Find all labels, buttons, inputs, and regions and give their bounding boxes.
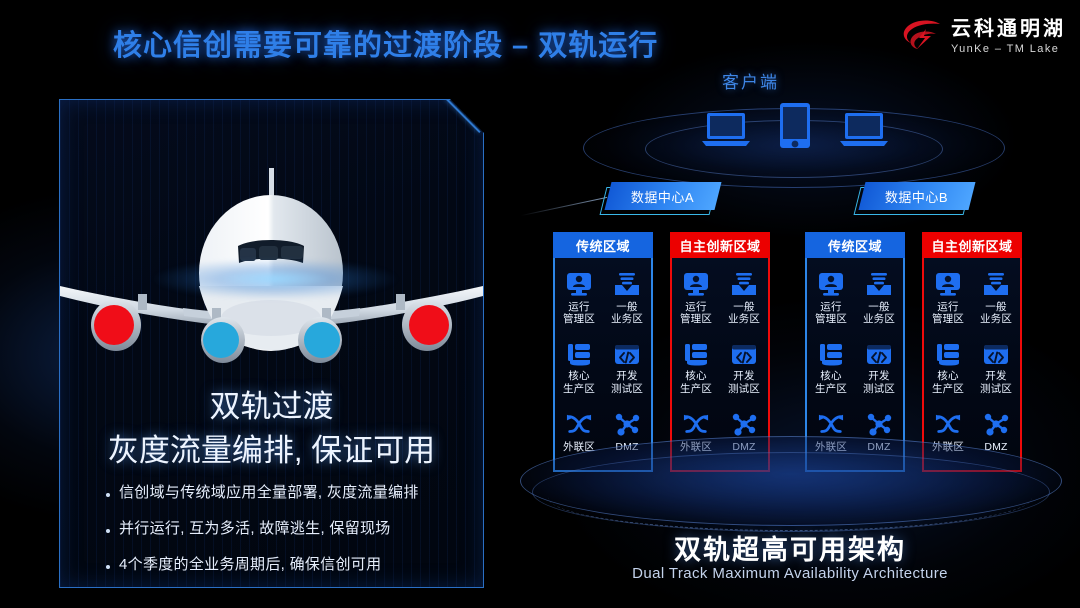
bullet-text: 信创域与传统域应用全量部署, 灰度流量编排 bbox=[119, 484, 419, 503]
zone-cell-label: 运行管理区 bbox=[932, 301, 964, 326]
zone-cell[interactable]: 外联区 bbox=[555, 412, 603, 453]
zone-cell-label: 运行管理区 bbox=[680, 301, 712, 326]
client-devices bbox=[700, 100, 890, 150]
crossing-arrows-icon bbox=[935, 412, 961, 436]
logo-text-cn: 云科通明湖 bbox=[951, 19, 1066, 39]
code-window-icon bbox=[614, 342, 640, 366]
zone-row: 核心生产区 开发测试区 bbox=[672, 342, 768, 395]
bullet-dot-icon bbox=[106, 493, 110, 497]
logo-swoosh-icon bbox=[902, 18, 942, 56]
page-title: 核心信创需要可靠的过渡阶段 – 双轨运行 bbox=[113, 22, 658, 64]
logo-text-en: YunKe – TM Lake bbox=[951, 44, 1066, 55]
zone-title: 自主创新区域 bbox=[931, 236, 1012, 255]
zone-cell[interactable]: 运行管理区 bbox=[924, 273, 972, 326]
zone-cell[interactable]: 运行管理区 bbox=[807, 273, 855, 326]
zone-cell[interactable]: 核心生产区 bbox=[924, 342, 972, 395]
zone-cell-label: 运行管理区 bbox=[815, 301, 847, 326]
code-window-icon bbox=[866, 342, 892, 366]
zone-cell-label: 核心生产区 bbox=[815, 370, 847, 395]
zone-row: 运行管理区 一般业务区 bbox=[555, 273, 651, 326]
banner-label: 数据中心B bbox=[885, 187, 948, 206]
zone-cell[interactable]: 开发测试区 bbox=[855, 342, 903, 395]
user-monitor-icon bbox=[818, 273, 844, 297]
zone-cell[interactable]: 一般业务区 bbox=[603, 273, 651, 326]
zone-cell-label: 核心生产区 bbox=[932, 370, 964, 395]
zone-cell[interactable]: 一般业务区 bbox=[972, 273, 1020, 326]
server-stack-icon bbox=[818, 342, 844, 366]
zone-cell-label: 一般业务区 bbox=[863, 301, 895, 326]
zone-header: 自主创新区域 bbox=[670, 232, 770, 258]
zone-cell[interactable]: 运行管理区 bbox=[672, 273, 720, 326]
zone-column-dcb-innovation[interactable]: 自主创新区域 运行管理区 一般业务区 bbox=[922, 232, 1022, 472]
network-nodes-icon bbox=[731, 412, 757, 436]
zone-row: 核心生产区 开发测试区 bbox=[555, 342, 651, 395]
list-item: 4个季度的全业务周期后, 确保信创可用 bbox=[106, 556, 466, 575]
zone-cell[interactable]: 开发测试区 bbox=[972, 342, 1020, 395]
crossing-arrows-icon bbox=[566, 412, 592, 436]
zone-cell[interactable]: 核心生产区 bbox=[672, 342, 720, 395]
zone-column-dca-traditional[interactable]: 传统区域 运行管理区 一般业务区 bbox=[553, 232, 653, 472]
zone-body: 运行管理区 一般业务区 核心生产区 bbox=[553, 258, 653, 472]
connector-line-left bbox=[521, 197, 607, 216]
zone-header: 自主创新区域 bbox=[922, 232, 1022, 258]
bullet-text: 并行运行, 互为多活, 故障逃生, 保留现场 bbox=[119, 520, 391, 539]
architecture-title-cn: 双轨超高可用架构 bbox=[500, 528, 1080, 567]
zone-cell[interactable]: 一般业务区 bbox=[720, 273, 768, 326]
user-monitor-icon bbox=[566, 273, 592, 297]
zone-cell-label: 开发测试区 bbox=[611, 370, 643, 395]
zone-cell-label: 一般业务区 bbox=[980, 301, 1012, 326]
zone-cell[interactable]: 运行管理区 bbox=[555, 273, 603, 326]
inbox-tray-icon bbox=[866, 273, 892, 297]
code-window-icon bbox=[731, 342, 757, 366]
panel-heading-line1: 双轨过渡 bbox=[60, 381, 483, 426]
zone-cell[interactable]: 核心生产区 bbox=[555, 342, 603, 395]
banner-fill: 数据中心B bbox=[859, 182, 976, 210]
inbox-tray-icon bbox=[983, 273, 1009, 297]
bullet-text: 4个季度的全业务周期后, 确保信创可用 bbox=[119, 556, 381, 575]
zone-title: 自主创新区域 bbox=[679, 236, 760, 255]
crossing-arrows-icon bbox=[683, 412, 709, 436]
zone-row: 运行管理区 一般业务区 bbox=[807, 273, 903, 326]
laptop-icon bbox=[838, 110, 890, 150]
platform-ellipse-inner bbox=[548, 464, 1032, 531]
zone-header: 传统区域 bbox=[805, 232, 905, 258]
zone-title: 传统区域 bbox=[828, 236, 882, 255]
zone-cell-label: 运行管理区 bbox=[563, 301, 595, 326]
server-stack-icon bbox=[683, 342, 709, 366]
zone-row: 运行管理区 一般业务区 bbox=[672, 273, 768, 326]
slide-root: 核心信创需要可靠的过渡阶段 – 双轨运行 云科通明湖 YunKe – TM La… bbox=[0, 0, 1080, 608]
code-window-icon bbox=[983, 342, 1009, 366]
zone-body: 运行管理区 一般业务区 核心生产区 bbox=[922, 258, 1022, 472]
banner-fill: 数据中心A bbox=[605, 182, 722, 210]
network-nodes-icon bbox=[983, 412, 1009, 436]
airplane-ground-glow bbox=[150, 258, 400, 300]
zone-header: 传统区域 bbox=[553, 232, 653, 258]
architecture-title-en: Dual Track Maximum Availability Architec… bbox=[500, 565, 1080, 582]
banner-label: 数据中心A bbox=[631, 187, 694, 206]
crossing-arrows-icon bbox=[818, 412, 844, 436]
datacenter-banner-b: 数据中心B bbox=[862, 182, 972, 210]
zone-cell-label: 一般业务区 bbox=[611, 301, 643, 326]
zone-cell-label: 核心生产区 bbox=[680, 370, 712, 395]
inbox-tray-icon bbox=[614, 273, 640, 297]
tablet-icon bbox=[778, 102, 812, 150]
server-stack-icon bbox=[935, 342, 961, 366]
zone-cell-label: 开发测试区 bbox=[980, 370, 1012, 395]
zone-cell[interactable]: 开发测试区 bbox=[720, 342, 768, 395]
zone-row: 运行管理区 一般业务区 bbox=[924, 273, 1020, 326]
zone-cell-label: 开发测试区 bbox=[728, 370, 760, 395]
zone-title: 传统区域 bbox=[576, 236, 630, 255]
zone-cell-label: 开发测试区 bbox=[863, 370, 895, 395]
zone-cell[interactable]: 核心生产区 bbox=[807, 342, 855, 395]
user-monitor-icon bbox=[935, 273, 961, 297]
datacenter-banner-a: 数据中心A bbox=[608, 182, 718, 210]
bullet-list: 信创域与传统域应用全量部署, 灰度流量编排 并行运行, 互为多活, 故障逃生, … bbox=[106, 484, 466, 588]
list-item: 并行运行, 互为多活, 故障逃生, 保留现场 bbox=[106, 520, 466, 539]
zone-cell[interactable]: DMZ bbox=[972, 412, 1020, 453]
zone-row: 核心生产区 开发测试区 bbox=[924, 342, 1020, 395]
network-nodes-icon bbox=[614, 412, 640, 436]
zone-row: 核心生产区 开发测试区 bbox=[807, 342, 903, 395]
list-item: 信创域与传统域应用全量部署, 灰度流量编排 bbox=[106, 484, 466, 503]
zone-cell[interactable]: 一般业务区 bbox=[855, 273, 903, 326]
zone-cell-label: 一般业务区 bbox=[728, 301, 760, 326]
zone-cell-label: 核心生产区 bbox=[563, 370, 595, 395]
left-feature-panel: 双轨过渡 灰度流量编排, 保证可用 信创域与传统域应用全量部署, 灰度流量编排 … bbox=[59, 99, 484, 588]
inbox-tray-icon bbox=[731, 273, 757, 297]
bullet-dot-icon bbox=[106, 529, 110, 533]
server-stack-icon bbox=[566, 342, 592, 366]
zone-cell[interactable]: 开发测试区 bbox=[603, 342, 651, 395]
laptop-icon bbox=[700, 110, 752, 150]
bullet-dot-icon bbox=[106, 565, 110, 569]
brand-logo: 云科通明湖 YunKe – TM Lake bbox=[902, 18, 1066, 56]
panel-heading-line2: 灰度流量编排, 保证可用 bbox=[60, 425, 483, 470]
user-monitor-icon bbox=[683, 273, 709, 297]
client-label: 客户端 bbox=[722, 68, 779, 93]
network-nodes-icon bbox=[866, 412, 892, 436]
